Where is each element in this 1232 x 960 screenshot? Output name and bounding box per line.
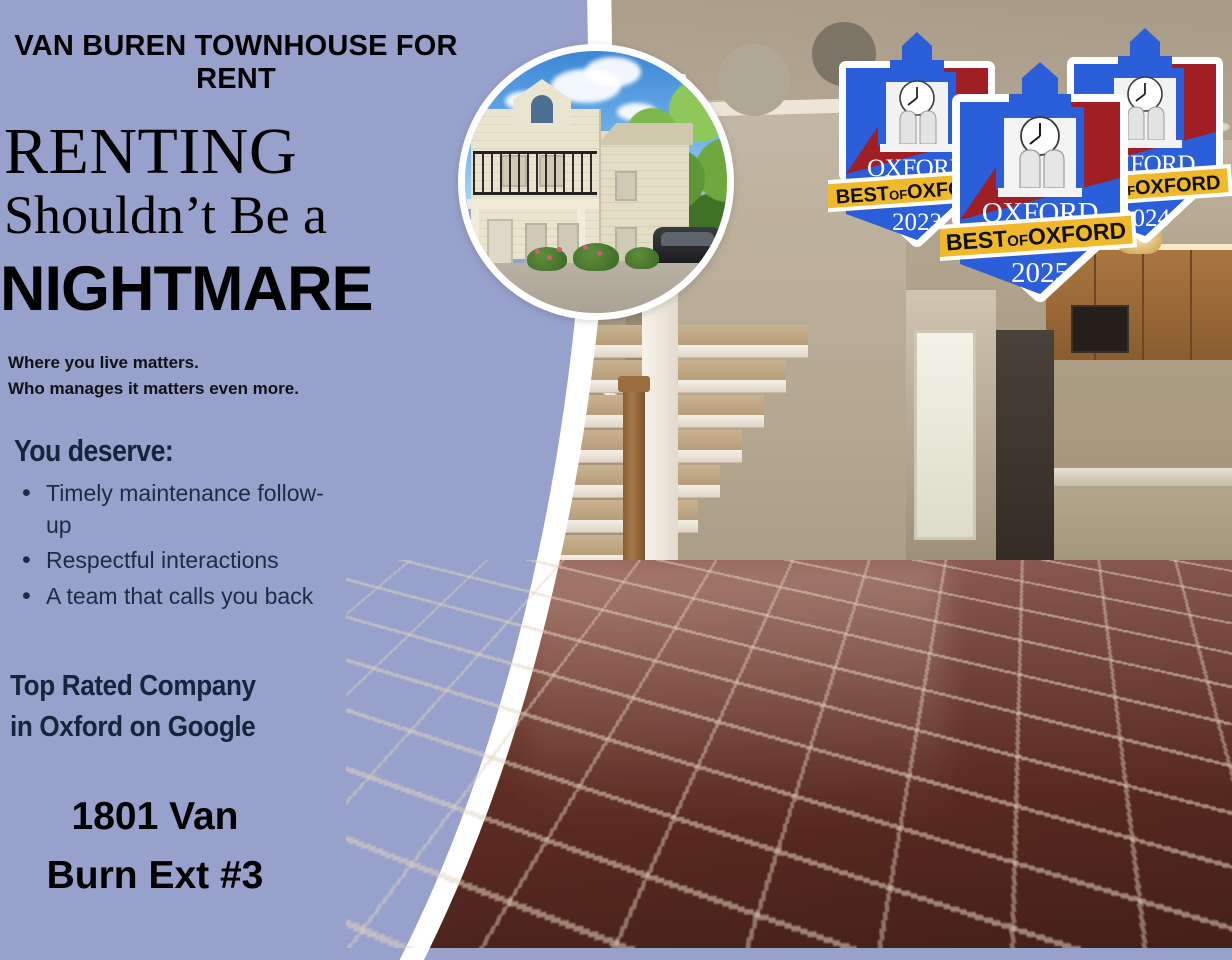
shrub	[625, 247, 659, 269]
top-rated-line-1: Top Rated Company	[10, 666, 307, 707]
porch-roof	[467, 199, 599, 209]
microwave	[1071, 305, 1129, 353]
shrub	[573, 243, 619, 271]
address-block: 1801 Van Burn Ext #3	[0, 788, 310, 905]
back-door	[914, 330, 976, 540]
top-rated-block: Top Rated Company in Oxford on Google	[10, 666, 307, 748]
headline-shouldnt-be-a: Shouldn’t Be a	[4, 188, 444, 242]
subtitle-line-2: Who manages it matters even more.	[8, 376, 428, 402]
award-badges-group: OXFORD MAGAZINE BESTOFOXFORD 2023	[828, 8, 1232, 308]
floor-reflection	[526, 560, 946, 948]
benefits-list: Timely maintenance follow-up Respectful …	[16, 478, 346, 617]
list-item: A team that calls you back	[16, 581, 346, 613]
poster-canvas: OXFORD MAGAZINE BESTOFOXFORD 2023	[0, 0, 1232, 960]
badge-best-of-oxford-2025: OXFORD MAGAZINE BESTOFOXFORD 2025	[940, 52, 1140, 310]
list-item: Timely maintenance follow-up	[16, 478, 346, 541]
newel-cap	[618, 376, 650, 392]
kitchen-counter	[1036, 468, 1232, 486]
exterior-house-photo	[458, 44, 734, 320]
headline-renting: RENTING	[4, 120, 444, 185]
address-line-1: 1801 Van	[0, 788, 310, 847]
stair-tread	[559, 345, 808, 358]
lower-window	[615, 171, 637, 201]
svg-text:2023: 2023	[892, 209, 942, 236]
list-item: Respectful interactions	[16, 545, 346, 577]
top-rated-line-2: in Oxford on Google	[10, 707, 307, 748]
subtitle-line-1: Where you live matters.	[8, 350, 428, 376]
driveway	[465, 263, 734, 320]
kicker-headline: VAN BUREN TOWNHOUSE FOR RENT	[10, 30, 462, 96]
you-deserve-heading: You deserve:	[14, 433, 173, 469]
balcony-railing	[473, 151, 597, 195]
address-line-2: Burn Ext #3	[0, 847, 310, 906]
svg-text:2025: 2025	[1011, 257, 1069, 289]
headline-nightmare: NIGHTMARE	[0, 258, 460, 321]
decorative-circle-light	[718, 44, 790, 116]
porch-column	[471, 209, 479, 271]
subtitle-block: Where you live matters. Who manages it m…	[8, 350, 428, 403]
dormer-window	[531, 95, 553, 123]
